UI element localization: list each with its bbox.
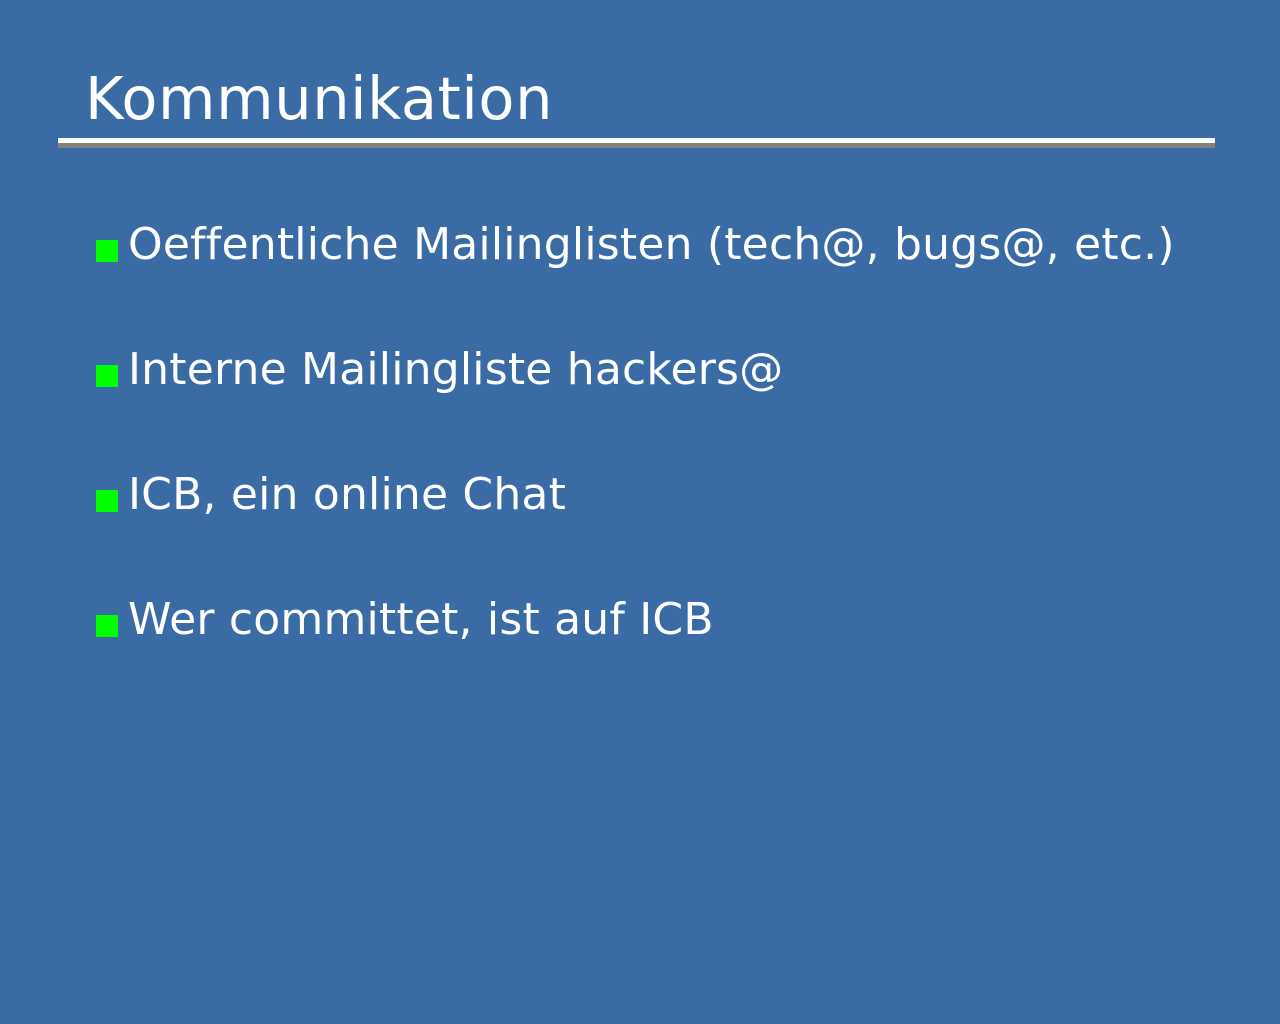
list-item: Wer committet, ist auf ICB	[96, 589, 1226, 714]
slide-title-block: Kommunikation	[58, 62, 1216, 146]
page-title: Kommunikation	[85, 62, 553, 136]
green-square-bullet-icon	[96, 615, 118, 637]
green-square-bullet-icon	[96, 490, 118, 512]
list-item: ICB, ein online Chat	[96, 464, 1226, 589]
list-item-label: Oeffentliche Mailinglisten (tech@, bugs@…	[128, 214, 1226, 276]
presentation-slide: Kommunikation Oeffentliche Mailinglisten…	[0, 0, 1280, 1024]
list-item-label: ICB, ein online Chat	[128, 464, 1226, 526]
list-item-label: Wer committet, ist auf ICB	[128, 589, 1226, 651]
title-divider	[58, 138, 1215, 148]
list-item-label: Interne Mailingliste hackers@	[128, 339, 1226, 401]
list-item: Oeffentliche Mailinglisten (tech@, bugs@…	[96, 214, 1226, 339]
title-divider-shadow	[58, 143, 1215, 148]
green-square-bullet-icon	[96, 365, 118, 387]
green-square-bullet-icon	[96, 240, 118, 262]
bullet-list: Oeffentliche Mailinglisten (tech@, bugs@…	[96, 214, 1226, 714]
list-item: Interne Mailingliste hackers@	[96, 339, 1226, 464]
